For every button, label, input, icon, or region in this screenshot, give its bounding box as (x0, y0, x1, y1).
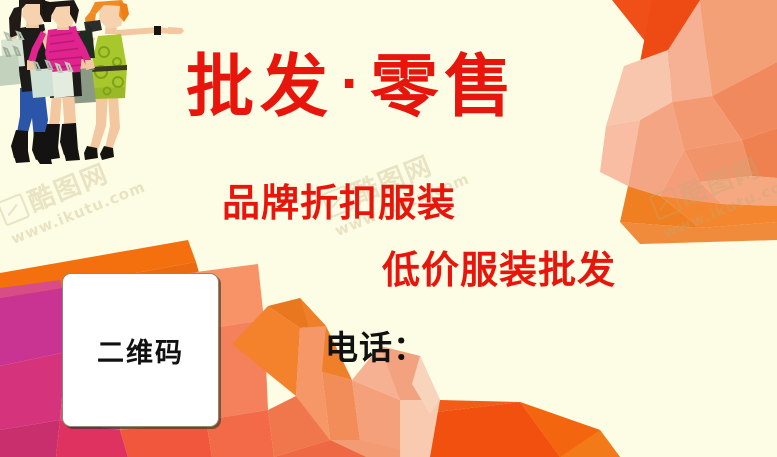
poster-canvas: 批发·零售 品牌折扣服装 低价服装批发 电话： 二维码 酷图网 www.ikut… (0, 0, 777, 457)
three-shopping-women-illustration (0, 0, 190, 175)
qr-code-label: 二维码 (97, 331, 184, 370)
subline-brand-discount: 品牌折扣服装 (222, 183, 456, 223)
phone-label: 电话： (325, 330, 427, 366)
headline: 批发·零售 (186, 50, 518, 122)
headline-left: 批发 (186, 48, 334, 127)
qr-code-placeholder[interactable]: 二维码 (62, 273, 219, 427)
headline-right: 零售 (370, 48, 518, 127)
subline-low-price-wholesale: 低价服装批发 (382, 250, 616, 290)
headline-separator: · (334, 56, 370, 112)
